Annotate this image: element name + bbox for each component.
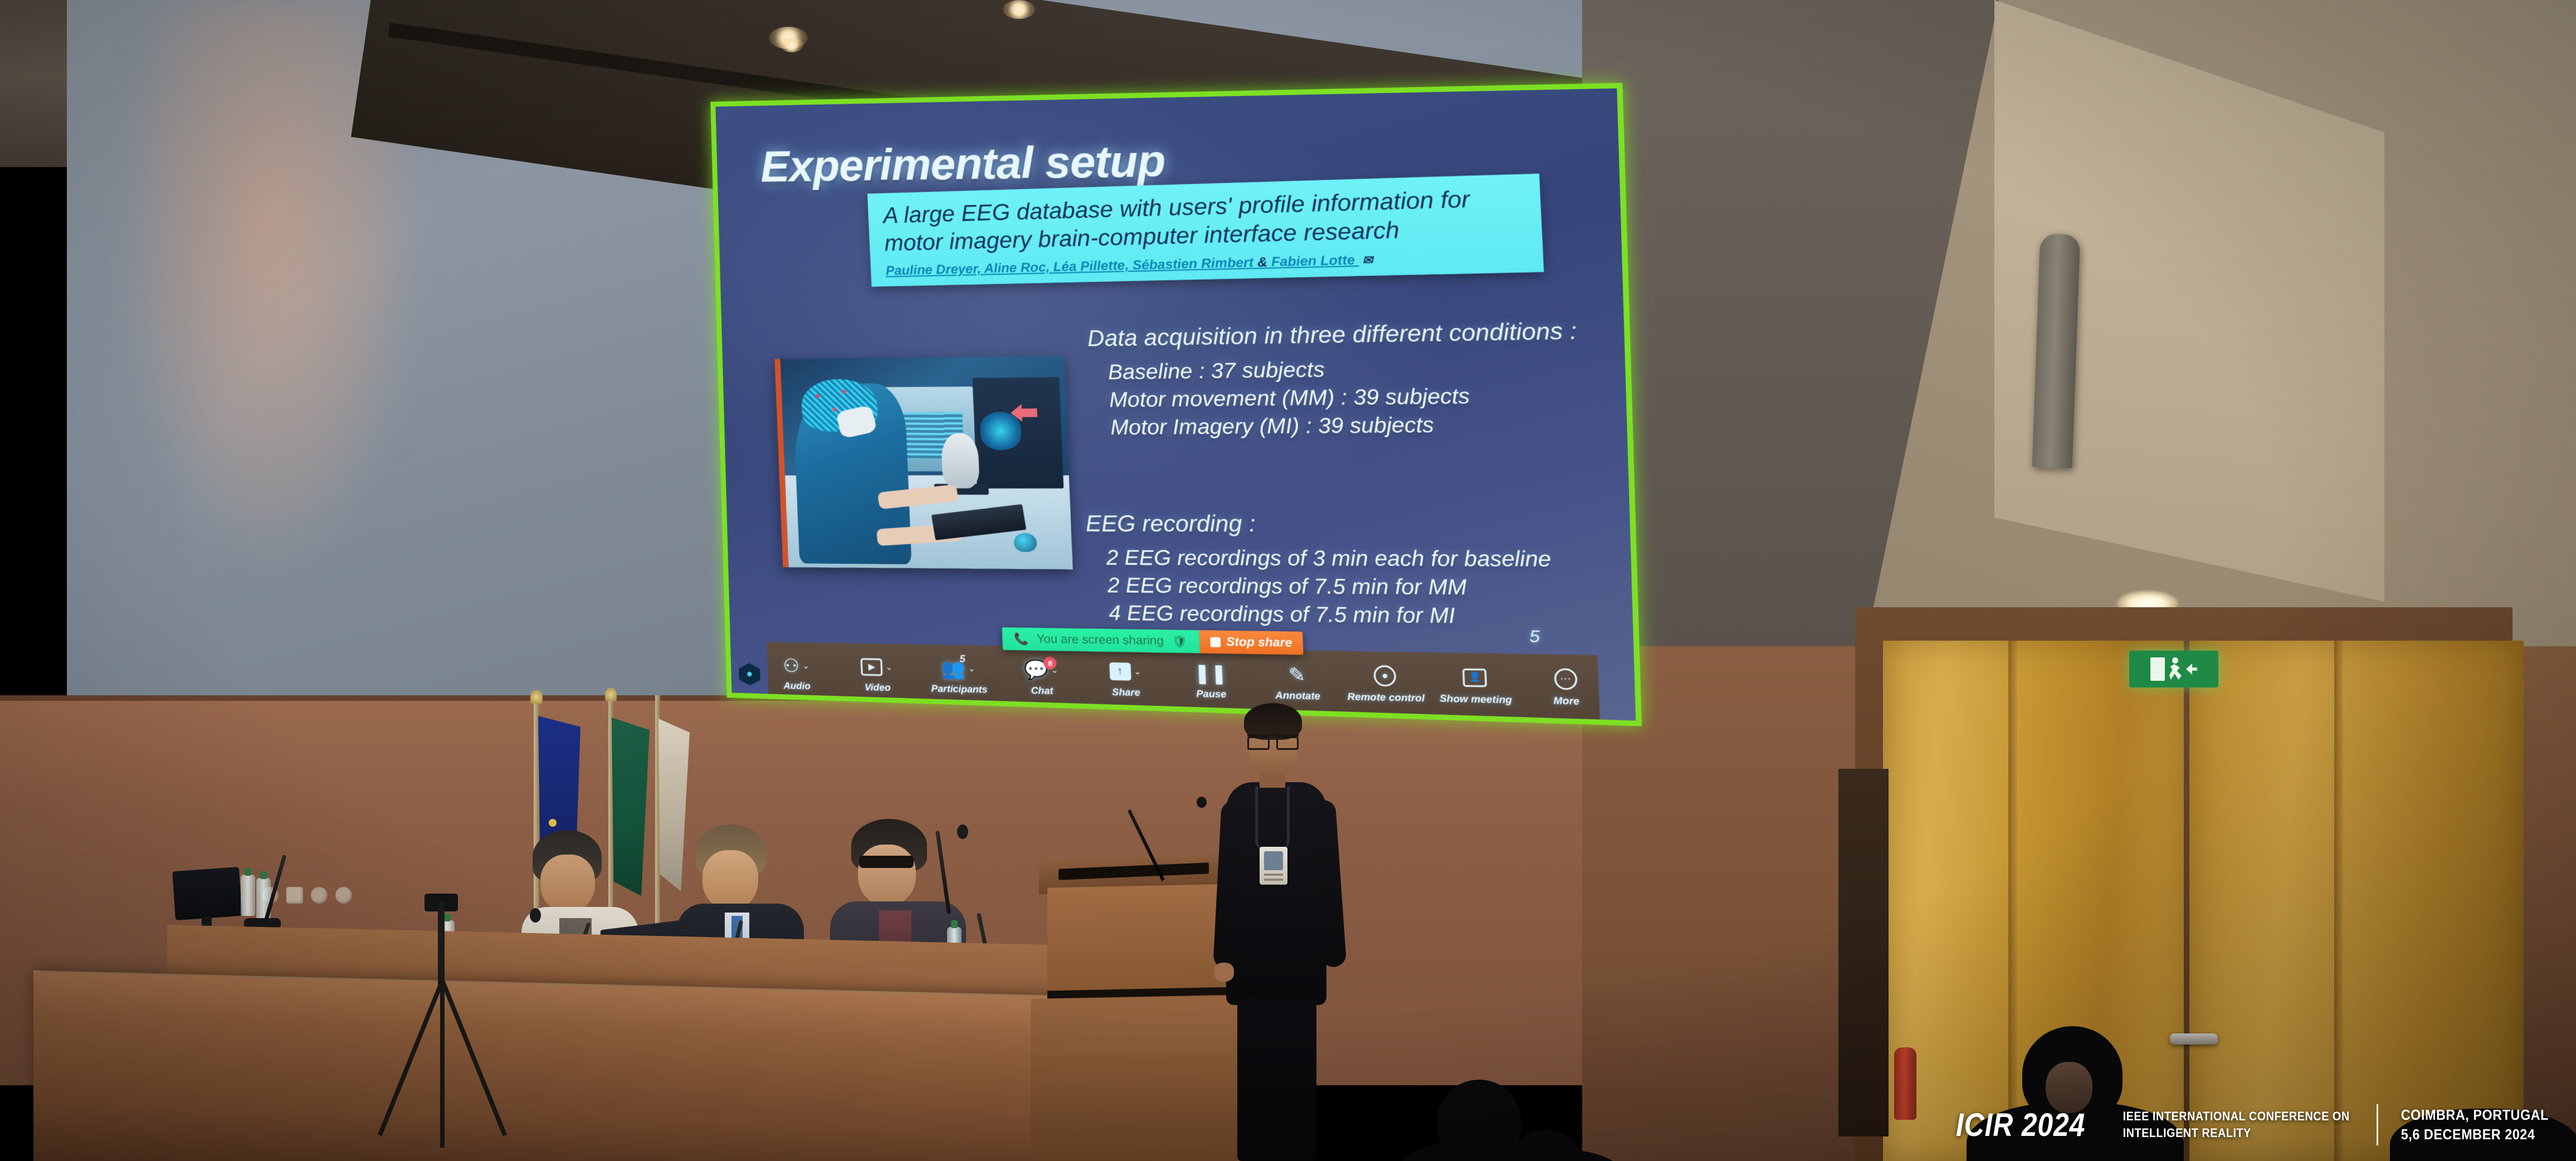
panelist-sunglasses [859, 856, 914, 868]
watermark-divider [2377, 1104, 2378, 1145]
section-heading: Data acquisition in three different cond… [1087, 317, 1630, 352]
slide-callout-box: A large EEG database with users' profile… [867, 174, 1544, 287]
stop-square-icon [1210, 637, 1221, 647]
author-ampersand: & [1257, 254, 1267, 270]
toolbar-label-participants: Participants [931, 683, 987, 695]
stop-share-button[interactable]: Stop share [1199, 630, 1304, 655]
slide-section-acquisition: Data acquisition in three different cond… [1087, 321, 1633, 442]
door-handle[interactable] [2170, 1033, 2218, 1045]
toolbar-button-video[interactable]: ▶ ⌄ Video [847, 653, 908, 694]
shield-icon: 🛡 [1172, 634, 1187, 648]
mic-icon: ⚇ [783, 656, 800, 675]
presenter-hand [1214, 963, 1234, 982]
microphone-head [1197, 797, 1207, 808]
badge-text-line [1264, 879, 1283, 881]
panelist-face [858, 845, 916, 906]
toolbar-label-annotate: Annotate [1275, 690, 1321, 703]
flagpole-finial [530, 690, 543, 704]
toolbar-label-audio: Audio [783, 680, 811, 692]
presentation-slide: Experimental setup A large EEG database … [715, 89, 1636, 721]
doorway-shadow-panel [1838, 769, 1889, 1136]
toolbar-label-show-meeting: Show meeting [1440, 693, 1513, 706]
acoustic-disc [335, 887, 352, 904]
list-item: 2 EEG recordings of 3 min each for basel… [1106, 544, 1636, 574]
exit-arrow-icon [2186, 664, 2197, 675]
ceiling-downlight-icon [780, 38, 803, 52]
panelist-face [540, 855, 595, 913]
stop-share-label: Stop share [1226, 635, 1292, 650]
screen-share-region: Experimental setup A large EEG database … [710, 83, 1642, 726]
watermark-subtitle-line2: INTELLIGENT REALITY [2123, 1126, 2350, 1140]
door-panel-right[interactable] [2189, 641, 2524, 1161]
sharing-status-label: You are screen sharing [1036, 632, 1164, 648]
water-bottle [241, 875, 255, 916]
toolbar-button-annotate[interactable]: ✎ Annotate [1265, 660, 1329, 703]
share-screen-icon: ↑ [1109, 662, 1131, 680]
exit-sign [2129, 651, 2218, 687]
acoustic-disc [311, 887, 328, 904]
slide-photo-eeg-participant [774, 356, 1072, 569]
chevron-down-icon[interactable]: ⌄ [885, 662, 893, 672]
badge-photo [1264, 851, 1283, 870]
slide-title: Experimental setup [760, 135, 1166, 193]
camera-tripod [390, 903, 490, 1148]
conference-watermark: ICIR 2024 IEEE INTERNATIONAL CONFERENCE … [1945, 1104, 2557, 1145]
list-item: 4 EEG recordings of 7.5 min for MI [1108, 599, 1636, 632]
watermark-subtitle-line1: IEEE INTERNATIONAL CONFERENCE ON [2123, 1109, 2350, 1124]
author-list: Pauline Dreyer, Aline Roc, Léa Pillette,… [885, 254, 1253, 277]
presenter-lanyard [1255, 787, 1290, 851]
toolbar-button-share[interactable]: ↑ ⌄ Share [1094, 657, 1157, 699]
slide-page-number: 5 [1529, 627, 1540, 647]
zoom-share-banner: 📞 You are screen sharing 🛡 Stop share [1002, 627, 1303, 655]
pause-icon: ❚❚ [1193, 663, 1227, 682]
presenter-glasses [1247, 734, 1299, 744]
presenter-legs [1237, 998, 1316, 1161]
toolbar-label-remote-control: Remote control [1347, 691, 1424, 705]
toolbar-button-more[interactable]: ⋯ More [1533, 665, 1600, 708]
watermark-location-line2: 5,6 DECEMBER 2024 [2401, 1126, 2549, 1143]
list-item: Motor movement (MM) : 39 subjects [1109, 381, 1632, 414]
presenter-badge [1260, 847, 1287, 885]
toolbar-label-more: More [1553, 695, 1579, 708]
remote-control-icon: ● [1373, 665, 1397, 687]
watermark-location-line1: COIMBRA, PORTUGAL [2401, 1106, 2549, 1124]
list-item: Motor Imagery (MI) : 39 subjects [1110, 409, 1633, 442]
screen-sharing-status: 📞 You are screen sharing 🛡 [1002, 627, 1199, 653]
toolbar-label-video: Video [865, 682, 891, 694]
tripod-column [438, 903, 445, 992]
watermark-location: COIMBRA, PORTUGAL 5,6 DECEMBER 2024 [2393, 1106, 2557, 1143]
toolbar-button-participants[interactable]: 5 👥 ⌄ Participants [928, 655, 989, 695]
show-meeting-icon: 👤 [1462, 668, 1487, 687]
zoom-logo-icon[interactable]: ● [739, 663, 760, 686]
participants-count-badge: 5 [959, 653, 965, 665]
door-stile [2334, 641, 2343, 1161]
toolbar-button-pause[interactable]: ❚❚ Pause [1179, 659, 1243, 701]
toolbar-button-remote-control[interactable]: ● Remote control [1353, 662, 1419, 704]
auditorium-scene: Experimental setup A large EEG database … [0, 0, 2576, 1161]
list-item: 2 EEG recordings of 7.5 min for MM [1107, 572, 1636, 603]
toolbar-label-pause: Pause [1196, 688, 1227, 700]
lectern-body [1047, 884, 1237, 1004]
phone-icon: 📞 [1014, 632, 1029, 646]
photo-brain-topomap [980, 412, 1022, 450]
more-icon: ⋯ [1554, 668, 1578, 690]
toolbar-button-chat[interactable]: 8 💬 ⌄ Chat [1011, 656, 1072, 697]
fire-extinguisher [1894, 1047, 1916, 1120]
pencil-icon: ✎ [1288, 665, 1306, 684]
watermark-subtitle: IEEE INTERNATIONAL CONFERENCE ON INTELLI… [2110, 1109, 2362, 1140]
panelist-face [702, 850, 758, 910]
acoustic-disc [286, 887, 303, 904]
envelope-icon: ✉ [1362, 252, 1373, 267]
toolbar-button-audio[interactable]: ⚇ ⌄ Audio [767, 652, 826, 692]
exit-door-icon [2150, 657, 2165, 681]
tripod-leg [440, 980, 445, 1148]
eu-flag-star [549, 819, 557, 827]
section-item-list: 2 EEG recordings of 3 min each for basel… [1086, 544, 1636, 632]
toolbar-button-show-meeting[interactable]: 👤 Show meeting [1442, 664, 1509, 706]
toolbar-label-chat: Chat [1031, 685, 1053, 697]
toolbar-label-share: Share [1112, 686, 1140, 699]
section-item-list: Baseline : 37 subjects Motor movement (M… [1087, 352, 1633, 442]
chevron-down-icon[interactable]: ⌄ [968, 664, 975, 674]
panel-monitor [172, 867, 242, 920]
author-last: Fabien Lotte [1271, 252, 1355, 269]
exit-running-person-icon [2168, 657, 2183, 681]
presenter [1217, 703, 1340, 1161]
door-stile [2008, 641, 2017, 1161]
wall-loudspeaker [2032, 233, 2081, 469]
microphone-head [530, 908, 541, 923]
watermark-brand: ICIR 2024 [1956, 1106, 2085, 1144]
badge-text-line [1264, 874, 1283, 876]
camera-icon: ▶ [861, 658, 883, 676]
section-heading: EEG recording : [1085, 511, 1636, 538]
chevron-down-icon[interactable]: ⌄ [802, 661, 809, 671]
chevron-down-icon[interactable]: ⌄ [1134, 666, 1141, 677]
projection-screen: Experimental setup A large EEG database … [708, 84, 1599, 719]
ceiling-downlight-icon [1003, 0, 1035, 19]
microphone-head [957, 825, 968, 839]
flagpole-finial [605, 687, 617, 701]
slide-section-recording: EEG recording : 2 EEG recordings of 3 mi… [1085, 507, 1636, 636]
